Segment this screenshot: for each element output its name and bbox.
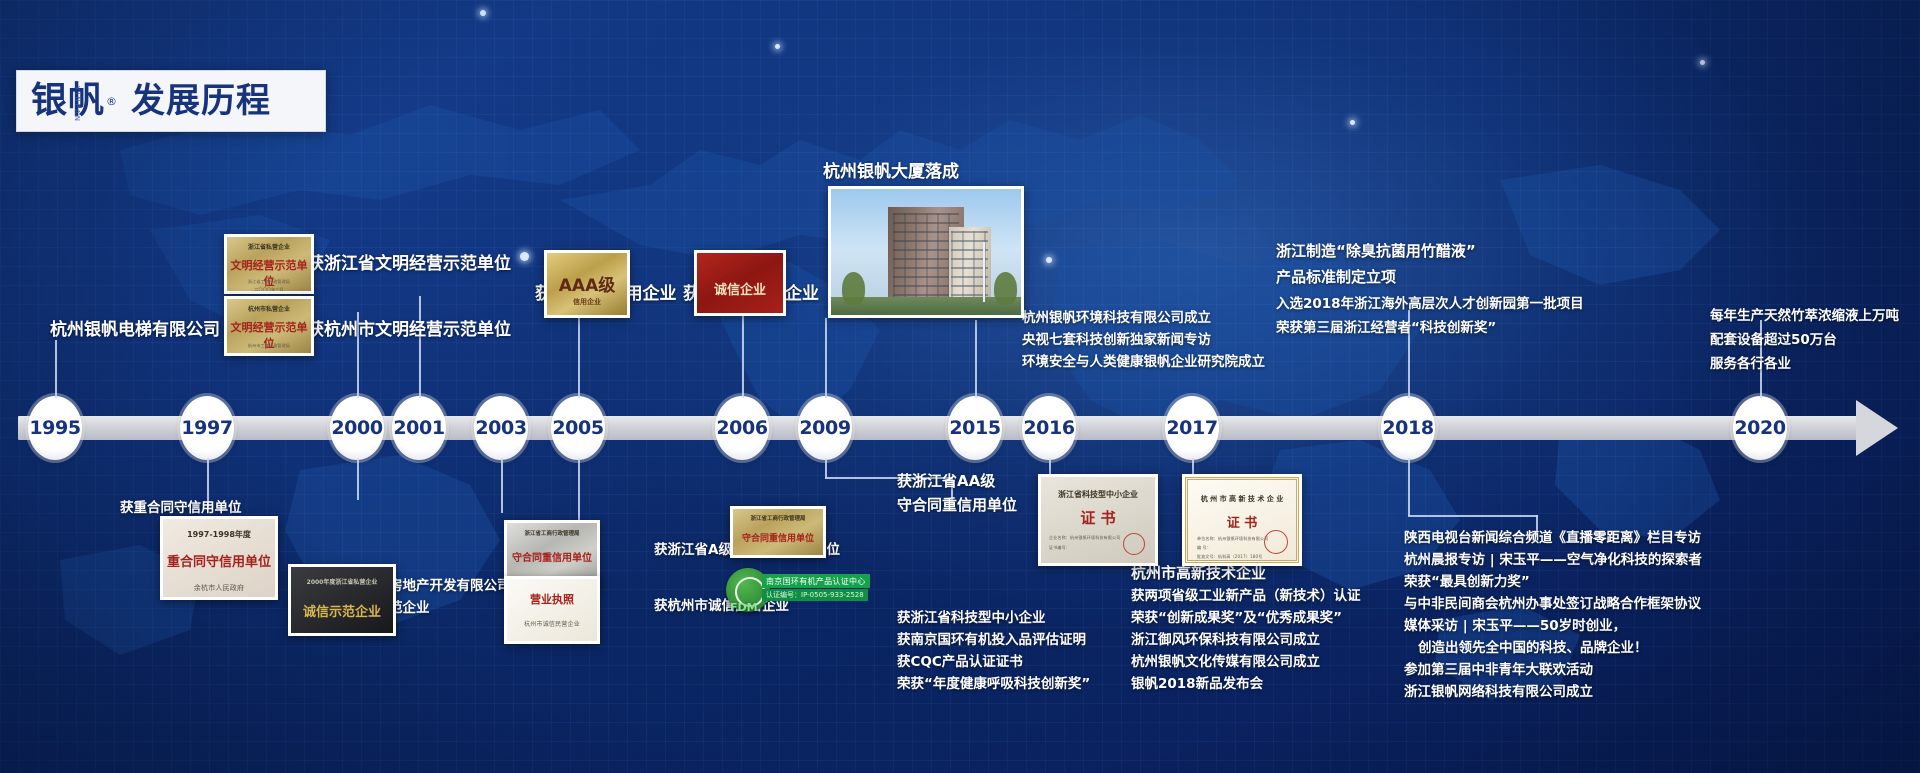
event-label-2015-line3: 环境安全与人类健康银帆企业研究院成立 [1022,352,1265,374]
connector-2001 [419,296,421,398]
timeline-year-2017[interactable]: 2017 [1165,396,1219,460]
connector-2005 [578,318,580,398]
sparkle-dot [1700,60,1705,65]
event-label-2018-above-line1: 浙江制造“除臭抗菌用竹醋液” [1276,240,1476,263]
timeline-axis [18,416,1858,440]
event-label-2018-above-line3: 入选2018年浙江海外高层次人才创新园第一批项目 [1276,294,1584,316]
official-seal-icon [1123,533,1145,555]
certificate-2017-field3: 批准文号：杭科高〔2017〕180号 [1188,554,1296,560]
certificate-2009-title: 守合同重信用单位 [733,531,823,544]
connector-2009 [825,318,827,398]
certificate-2000-subtitle: 浙江省私营企业 [227,242,311,251]
certificate-2005b-head: 杭州市诚信民营企业 [507,619,597,628]
certificate-2003-head: 浙江省工商行政管理局 [507,529,597,537]
tree-icon [994,272,1017,305]
event-label-2017-below-line5: 杭州银帆文化传媒有限公司成立 [1131,652,1320,674]
sparkle-dot [480,10,486,16]
certificate-2000-issuer: 浙江省工商行政管理局 [227,279,311,285]
connector-2000-below [357,458,359,500]
event-label-2017-below-line3: 荣获“创新成果奖”及“优秀成果奖” [1131,608,1342,630]
certificate-2016-title: 证 书 [1041,507,1155,528]
brand-name-cn: 银帆 [31,83,105,119]
event-label-2016-below-line1: 获浙江省科技型中小企业 [897,608,1046,630]
certificate-image-2006[interactable]: 诚信企业 [694,250,786,316]
connector-2006 [742,316,744,398]
connector-2018-below-h [1408,515,1538,517]
certificate-2005b-title: 营业执照 [507,591,597,607]
certificate-image-1997[interactable]: 1997-1998年度 重合同守信用单位 余杭市人民政府 [160,516,278,600]
organic-cert-name: 南京国环有机产品认证中心 [762,574,870,588]
event-label-2018-below-line1: 陕西电视台新闻综合频道《直播零距离》栏目专访 [1404,528,1701,550]
connector-2015 [975,320,977,398]
connector-2003-below [501,458,503,513]
timeline-year-2016[interactable]: 2016 [1022,396,1076,460]
certificate-2001-subtitle: 杭州市私营企业 [227,304,311,313]
event-label-2001: 获杭州市文明经营示范单位 [307,318,511,344]
certificate-image-2017[interactable]: 杭 州 市 高 新 技 术 企 业 证 书 单位名称：杭州银帆环境科技有限公司 … [1182,474,1302,566]
connector-1995 [55,340,57,398]
organic-cert-code: 认证编号：IP-0505-933-2528 [762,589,868,601]
event-label-2018-below-line3: 荣获“最具创新力奖” [1404,572,1530,594]
event-label-2017-below-line6: 银帆2018新品发布会 [1131,674,1263,696]
certificate-image-2005-aaa[interactable]: AAA级 信用企业 [544,250,630,318]
event-label-2000: 获浙江省文明经营示范单位 [307,252,511,278]
event-label-2015-line2: 央视七套科技创新独家新闻专访 [1022,330,1211,352]
event-label-2016-below-line3: 获CQC产品认证证书 [897,652,1023,674]
event-label-2017-below-line2: 获两项省级工业新产品（新技术）认证 [1131,586,1361,608]
certificate-2001-issuer: 杭州市工商行政管理局 [227,343,311,349]
certificate-2000b-title: 诚信示范企业 [291,601,393,620]
timeline-year-2006[interactable]: 2006 [715,396,769,460]
certificate-1997-issuer: 余杭市人民政府 [163,583,275,593]
timeline-year-2000[interactable]: 2000 [330,396,384,460]
official-seal-icon [1264,530,1288,554]
event-label-2020-line2: 配套设备超过50万台 [1710,330,1837,352]
certificate-2017-head: 杭 州 市 高 新 技 术 企 业 [1188,494,1296,504]
infographic-canvas: 银帆 YINFAN ® 发展历程 1995 1997 2000 2001 200… [0,0,1920,773]
certificate-image-2005-below[interactable]: 营业执照 杭州市诚信民营企业 [504,576,600,644]
event-label-2018-below-line6: 创造出领先全中国的科技、品牌企业！ [1418,638,1648,660]
certificate-2003-title: 守合同重信用单位 [507,549,597,564]
certificate-image-2016[interactable]: 浙江省科技型中小企业 证 书 企业名称：杭州银帆环境科技有限公司 证书编号： [1038,474,1158,566]
event-label-2016-below-line2: 获南京国环有机投入品评估证明 [897,630,1086,652]
event-label-2018-below-line4: 与中非民间商会杭州办事处签订战略合作框架协议 [1404,594,1701,616]
event-label-2018-below-line7: 参加第三届中非青年大联欢活动 [1404,660,1593,682]
timeline-year-2020[interactable]: 2020 [1733,396,1787,460]
event-label-2015-line1: 杭州银帆环境科技有限公司成立 [1022,308,1211,330]
certificate-2000-date: 二〇〇〇年三月 [227,287,311,291]
connector-2018-below [1408,458,1410,516]
connector-2005-below [578,458,580,528]
sparkle-dot [1350,120,1355,125]
certificate-image-2001[interactable]: 杭州市私营企业 文明经营示范单位 杭州市工商行政管理局 [224,296,314,356]
event-label-2009-below-line1: 获浙江省AA级 [897,470,995,493]
street-lamp-icon [983,242,985,302]
certificate-image-2000-below[interactable]: 2000年度浙江省私营企业 诚信示范企业 [288,564,396,636]
photo-hangzhou-yinfan-building[interactable] [828,186,1024,318]
event-label-2009: 杭州银帆大厦落成 [823,160,959,186]
title-plate: 银帆 YINFAN ® 发展历程 [16,70,326,132]
registered-mark-icon: ® [106,95,117,108]
connector-2009-below [825,458,827,478]
event-label-2009-below-line2: 守合同重信用单位 [897,494,1017,517]
page-title: 发展历程 [131,84,271,118]
sparkle-dot [775,44,780,49]
certificate-2009-head: 浙江省工商行政管理局 [733,514,823,522]
event-label-2016-below-line4: 荣获“年度健康呼吸科技创新奖” [897,674,1090,696]
certificate-2005-title: AAA级 [547,271,627,296]
organic-cert-logo-text: FDM [730,600,758,617]
timeline-year-2001[interactable]: 2001 [392,396,446,460]
timeline-year-2009[interactable]: 2009 [798,396,852,460]
certificate-2005-subtitle: 信用企业 [547,297,627,307]
timeline-year-2018[interactable]: 2018 [1381,396,1435,460]
sparkle-dot [520,252,529,261]
timeline-arrow-icon [1856,400,1898,456]
certificate-1997-title: 重合同守信用单位 [163,551,275,570]
event-label-2017-below-line4: 浙江御风环保科技有限公司成立 [1131,630,1320,652]
certificate-2016-head: 浙江省科技型中小企业 [1041,489,1155,500]
certificate-image-2009[interactable]: 浙江省工商行政管理局 守合同重信用单位 [730,506,826,558]
event-label-2018-above-line4: 荣获第三届浙江经营者“科技创新奖” [1276,318,1496,340]
event-label-2018-above-line2: 产品标准制定立项 [1276,266,1396,289]
tree-icon [842,272,865,305]
timeline-year-1997[interactable]: 1997 [180,396,234,460]
event-label-2018-below-line2: 杭州晨报专访 | 宋玉平——空气净化科技的探索者 [1404,550,1702,572]
event-label-1995: 杭州银帆电梯有限公司 [50,318,220,344]
timeline-year-2005[interactable]: 2005 [551,396,605,460]
event-label-2018-below-line8: 浙江银帆网络科技有限公司成立 [1404,682,1593,704]
certificate-2017-title: 证 书 [1188,512,1296,531]
event-label-2018-below-line5: 媒体采访 | 宋玉平——50岁时创业， [1404,616,1626,638]
event-label-2020-line3: 服务各行各业 [1710,354,1791,376]
timeline-year-1995[interactable]: 1995 [28,396,82,460]
brand-logo: 银帆 YINFAN ® [31,83,117,119]
brand-pinyin: YINFAN [73,86,80,123]
timeline-year-2003[interactable]: 2003 [474,396,528,460]
event-label-2020-line1: 每年生产天然竹萃浓缩液上万吨 [1710,306,1899,328]
certificate-image-2000[interactable]: 浙江省私营企业 文明经营示范单位 浙江省工商行政管理局 二〇〇〇年三月 [224,234,314,294]
certificate-2006-title: 诚信企业 [697,279,783,298]
timeline-year-2015[interactable]: 2015 [948,396,1002,460]
sparkle-dot [1046,257,1052,263]
certificate-2000b-head: 2000年度浙江省私营企业 [291,577,393,586]
certificate-1997-year: 1997-1998年度 [163,529,275,540]
